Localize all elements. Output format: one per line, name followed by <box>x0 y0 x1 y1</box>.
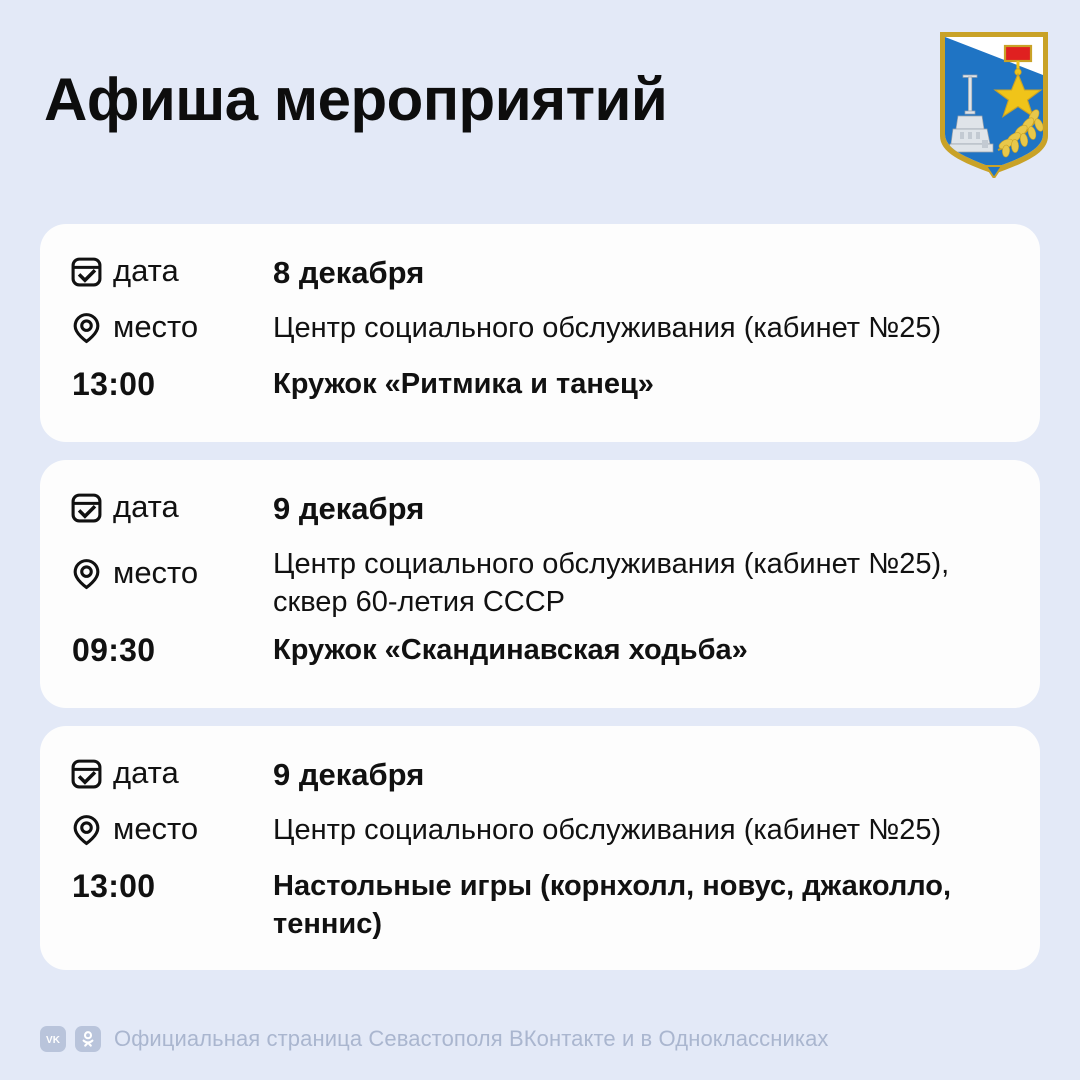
map-pin-icon <box>70 813 103 846</box>
event-date-row: дата 8 декабря <box>70 250 1008 304</box>
header: Афиша мероприятий <box>0 0 1080 218</box>
event-time-row: 13:00 Кружок «Ритмика и танец» <box>70 362 1008 416</box>
event-title-value: Кружок «Ритмика и танец» <box>273 362 1008 403</box>
map-pin-icon <box>70 557 103 590</box>
footer-text: Официальная страница Севастополя ВКонтак… <box>114 1026 829 1052</box>
event-date-row: дата 9 декабря <box>70 752 1008 806</box>
event-time-value: 13:00 <box>70 864 273 906</box>
event-place-value: Центр социального обслуживания (кабинет … <box>273 542 1008 622</box>
footer: VK Официальная страница Севастополя ВКон… <box>40 1026 829 1052</box>
event-time-value: 09:30 <box>70 628 273 670</box>
date-label-text: дата <box>113 488 179 527</box>
calendar-check-icon <box>70 491 103 524</box>
svg-text:VK: VK <box>46 1035 61 1046</box>
event-date-value: 9 декабря <box>273 486 1008 530</box>
event-title-value: Настольные игры (корнхолл, новус, джакол… <box>273 864 1008 944</box>
event-time-row: 09:30 Кружок «Скандинавская ходьба» <box>70 628 1008 682</box>
place-label-text: место <box>113 810 198 849</box>
event-place-row: место Центр социального обслуживания (ка… <box>70 306 1008 360</box>
map-pin-icon <box>70 311 103 344</box>
date-label-group: дата <box>70 250 273 291</box>
events-list: дата 8 декабря место Центр социального о… <box>40 224 1040 970</box>
event-title-value: Кружок «Скандинавская ходьба» <box>273 628 1008 669</box>
calendar-check-icon <box>70 757 103 790</box>
place-label-group: место <box>70 306 273 347</box>
place-label-group: место <box>70 542 273 593</box>
date-label-text: дата <box>113 754 179 793</box>
event-date-value: 9 декабря <box>273 752 1008 796</box>
coat-of-arms-sevastopol-icon <box>936 28 1052 178</box>
date-label-group: дата <box>70 752 273 793</box>
place-label-text: место <box>113 554 198 593</box>
place-label-text: место <box>113 308 198 347</box>
event-time-value: 13:00 <box>70 362 273 404</box>
event-card[interactable]: дата 9 декабря место Центр социального о… <box>40 726 1040 970</box>
odnoklassniki-icon[interactable] <box>75 1026 101 1052</box>
event-card[interactable]: дата 9 декабря место Центр социального о… <box>40 460 1040 708</box>
event-place-row: место Центр социального обслуживания (ка… <box>70 542 1008 626</box>
place-label-group: место <box>70 808 273 849</box>
calendar-check-icon <box>70 255 103 288</box>
event-date-row: дата 9 декабря <box>70 486 1008 540</box>
page-title: Афиша мероприятий <box>44 68 667 131</box>
event-date-value: 8 декабря <box>273 250 1008 294</box>
event-card[interactable]: дата 8 декабря место Центр социального о… <box>40 224 1040 442</box>
event-place-value: Центр социального обслуживания (кабинет … <box>273 808 1008 849</box>
date-label-group: дата <box>70 486 273 527</box>
vk-icon[interactable]: VK <box>40 1026 66 1052</box>
date-label-text: дата <box>113 252 179 291</box>
event-place-row: место Центр социального обслуживания (ка… <box>70 808 1008 862</box>
event-place-value: Центр социального обслуживания (кабинет … <box>273 306 1008 347</box>
event-time-row: 13:00 Настольные игры (корнхолл, новус, … <box>70 864 1008 944</box>
